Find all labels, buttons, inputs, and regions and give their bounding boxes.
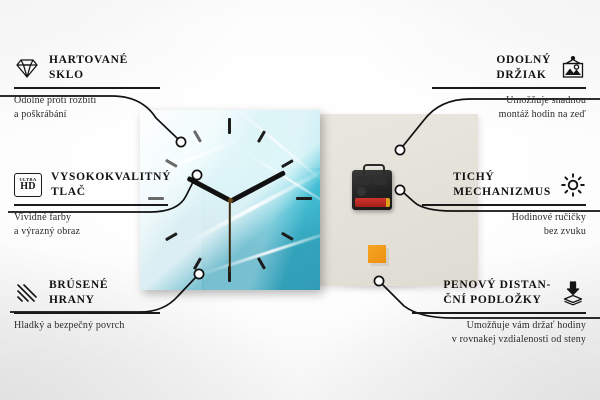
mechanism-slot-left <box>356 176 369 185</box>
feature-description: Umožňuje vám držať hodiny v rovnakej vzd… <box>412 319 586 347</box>
foam-spacer-icon <box>560 280 586 306</box>
feature-divider <box>14 204 168 206</box>
feature-silent-mechanism: TICHÝ MECHANIZMUS Hodinové ručičky bez z… <box>422 170 586 239</box>
mechanism-dial <box>357 187 366 196</box>
feature-description: Odolné proti rozbití a poškrábání <box>14 94 174 122</box>
feature-tempered-glass: HARTOVANÉ SKLO Odolné proti rozbití a po… <box>14 53 174 122</box>
feature-description: Umožňuje snadnou montáž hodin na zeď <box>432 94 586 122</box>
feature-heading: ultra HD VYSOKOKVALITNÝ TLAČ <box>14 170 182 200</box>
feature-title: HARTOVANÉ SKLO <box>49 53 128 83</box>
feature-foam-spacers: PENOVÝ DISTAN- ČNÍ PODLOŽKY Umožňuje vám… <box>412 278 586 347</box>
feature-heading: BRÚSENÉ HRANY <box>14 278 174 308</box>
feature-title: ODOLNÝ DRŽIAK <box>496 53 551 83</box>
diamond-icon <box>14 55 40 81</box>
clock-second-hand <box>229 200 231 272</box>
feature-description: Vividné farby a výrazný obraz <box>14 211 182 239</box>
feature-heading: PENOVÝ DISTAN- ČNÍ PODLOŽKY <box>412 278 586 308</box>
feature-description: Hodinové ručičky bez zvuku <box>422 211 586 239</box>
feature-high-quality-print: ultra HD VYSOKOKVALITNÝ TLAČ Vividné far… <box>14 170 182 239</box>
badge-hd-label: HD <box>20 182 36 192</box>
feature-divider <box>14 312 160 314</box>
battery-terminal <box>386 198 390 207</box>
clock-mechanism <box>352 170 392 210</box>
mechanism-slot-right <box>373 176 386 185</box>
feature-divider <box>422 204 586 206</box>
foam-spacer-pad <box>368 245 386 263</box>
feature-heading: TICHÝ MECHANIZMUS <box>422 170 586 200</box>
mechanism-hanger <box>363 164 385 174</box>
infographic-canvas: HARTOVANÉ SKLO Odolné proti rozbití a po… <box>0 0 600 400</box>
feature-divider <box>432 87 586 89</box>
feature-beveled-edges: BRÚSENÉ HRANY Hladký a bezpečný povrch <box>14 278 174 333</box>
picture-hanger-icon <box>560 55 586 81</box>
feature-title: TICHÝ MECHANIZMUS <box>453 170 551 200</box>
clock-tick <box>296 197 312 200</box>
battery <box>355 198 389 207</box>
feature-heading: ODOLNÝ DRŽIAK <box>432 53 586 83</box>
gear-icon <box>560 172 586 198</box>
feature-divider <box>412 312 586 314</box>
feature-divider <box>14 87 160 89</box>
feature-description: Hladký a bezpečný povrch <box>14 319 174 333</box>
feature-durable-hanger: ODOLNÝ DRŽIAK Umožňuje snadnou montáž ho… <box>432 53 586 122</box>
clock-center-hub <box>228 198 233 203</box>
ultra-hd-badge-icon: ultra HD <box>14 173 42 197</box>
feature-title: BRÚSENÉ HRANY <box>49 278 108 308</box>
feature-heading: HARTOVANÉ SKLO <box>14 53 174 83</box>
beveled-edges-icon <box>14 280 40 306</box>
feature-title: PENOVÝ DISTAN- ČNÍ PODLOŽKY <box>443 278 551 308</box>
clock-tick <box>228 118 231 134</box>
feature-title: VYSOKOKVALITNÝ TLAČ <box>51 170 171 200</box>
